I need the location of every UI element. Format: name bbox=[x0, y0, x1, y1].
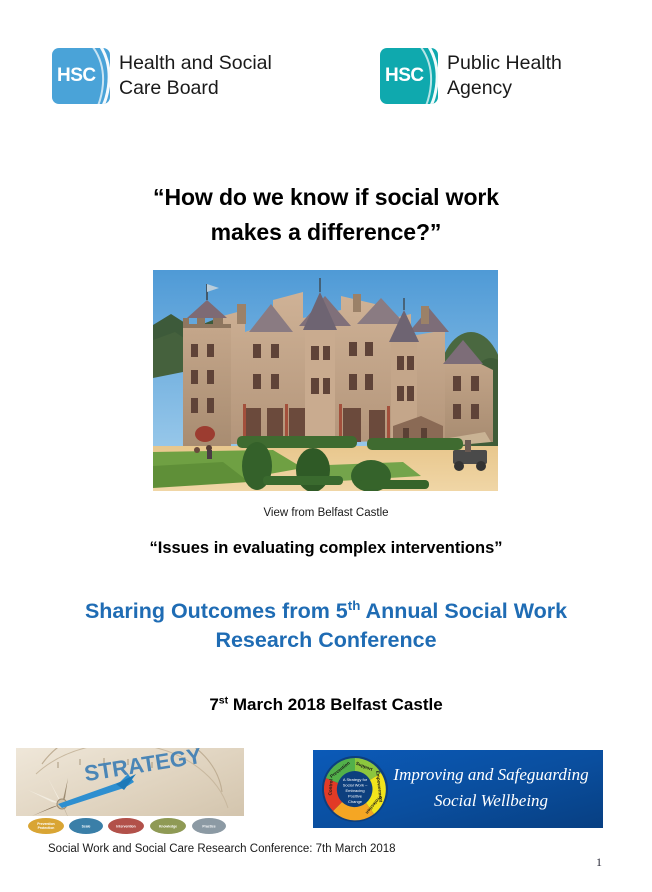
conference-heading-line2: Research Conference bbox=[36, 626, 616, 655]
page-title: “How do we know if social work makes a d… bbox=[0, 180, 652, 250]
header-logo-row: HSC Health and Social Care Board HSC bbox=[0, 44, 652, 122]
public-health-agency-logo: HSC Public Health Agency bbox=[380, 48, 562, 104]
event-day-ordinal: st bbox=[219, 694, 228, 706]
photo-caption: View from Belfast Castle bbox=[0, 507, 652, 519]
strategy-compass-image: STRATEGY bbox=[16, 748, 244, 836]
strategy-wheel-icon: A Strategy for Social Work – Embracing P… bbox=[322, 756, 388, 822]
svg-text:Change: Change bbox=[348, 799, 363, 804]
banner-line1: Improving and Safeguarding bbox=[392, 765, 588, 784]
footer-text: Social Work and Social Care Research Con… bbox=[48, 843, 396, 855]
hsc-board-line2: Care Board bbox=[119, 76, 272, 101]
hsc-swoosh-icon bbox=[76, 48, 110, 104]
svg-text:A Strategy for: A Strategy for bbox=[343, 777, 368, 782]
page-title-line1: “How do we know if social work bbox=[153, 184, 499, 210]
svg-text:Positive: Positive bbox=[348, 794, 363, 799]
belfast-castle-illustration bbox=[153, 270, 498, 491]
improving-safeguarding-illustration: A Strategy for Social Work – Embracing P… bbox=[313, 750, 603, 828]
improving-safeguarding-banner: A Strategy for Social Work – Embracing P… bbox=[313, 750, 603, 828]
hsc-board-logo: HSC Health and Social Care Board bbox=[52, 48, 272, 104]
svg-text:Practice: Practice bbox=[202, 825, 215, 829]
svg-text:Social Work –: Social Work – bbox=[343, 783, 368, 788]
hsc-logo-mark: HSC bbox=[52, 48, 110, 104]
event-date-rest: March 2018 Belfast Castle bbox=[228, 695, 443, 714]
hsc-board-logo-text: Health and Social Care Board bbox=[119, 51, 272, 101]
page-title-line2: makes a difference?” bbox=[0, 215, 652, 250]
conference-heading: Sharing Outcomes from 5th Annual Social … bbox=[36, 597, 616, 655]
pha-line2: Agency bbox=[447, 76, 562, 101]
conference-heading-part2: Annual Social Work bbox=[360, 599, 567, 623]
svg-text:Intervention: Intervention bbox=[116, 825, 135, 829]
event-date-line: 7st March 2018 Belfast Castle bbox=[0, 695, 652, 715]
subtitle: “Issues in evaluating complex interventi… bbox=[0, 539, 652, 558]
hsc-swoosh-icon bbox=[404, 48, 438, 104]
hsc-logo-mark: HSC bbox=[380, 48, 438, 104]
svg-text:Protection: Protection bbox=[38, 826, 55, 830]
event-day: 7 bbox=[209, 695, 218, 714]
hsc-board-line1: Health and Social bbox=[119, 51, 272, 76]
pha-line1: Public Health bbox=[447, 51, 562, 76]
conference-ordinal: th bbox=[348, 598, 361, 613]
pha-logo-text: Public Health Agency bbox=[447, 51, 562, 101]
strategy-compass-illustration: STRATEGY bbox=[16, 748, 244, 836]
document-page: HSC Health and Social Care Board HSC bbox=[0, 0, 652, 892]
banner-line2: Social Wellbeing bbox=[434, 791, 548, 810]
svg-text:Scale: Scale bbox=[82, 825, 91, 829]
svg-text:Knowledge: Knowledge bbox=[159, 825, 177, 829]
page-number: 1 bbox=[596, 855, 602, 870]
conference-heading-part1: Sharing Outcomes from 5 bbox=[85, 599, 348, 623]
belfast-castle-photo bbox=[153, 270, 498, 491]
svg-text:Embracing: Embracing bbox=[345, 788, 364, 793]
